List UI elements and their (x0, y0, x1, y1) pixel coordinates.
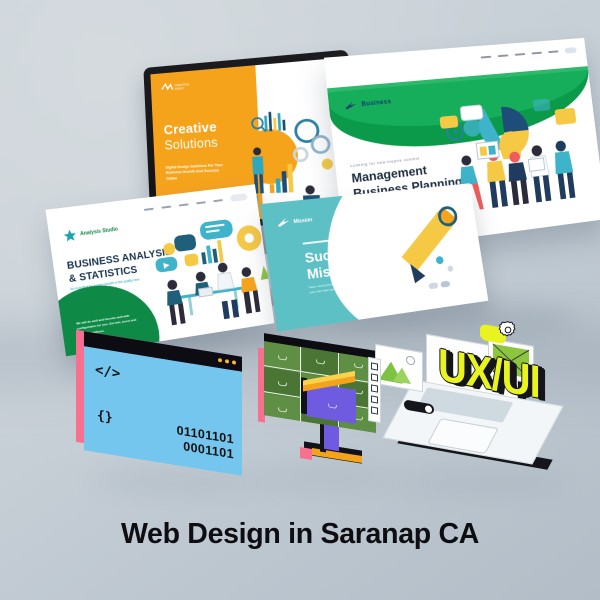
nav-item-work[interactable] (196, 201, 206, 204)
creative-heading-line2: Solutions (164, 135, 218, 152)
nav-item-contact[interactable] (564, 47, 576, 54)
nav-item-service[interactable] (515, 53, 526, 56)
search-icon (424, 404, 433, 415)
nav-item-about[interactable] (161, 205, 171, 208)
open-drawer-handle[interactable] (328, 404, 337, 409)
nav-item-pages[interactable] (179, 203, 189, 206)
nav-item-blog[interactable] (213, 199, 223, 202)
mission-illustration (374, 193, 485, 305)
nav-item-home[interactable] (144, 207, 154, 210)
nav-item-blog[interactable] (548, 50, 558, 53)
business-analysis-brand-label: Analysis Studio (80, 226, 119, 237)
mockup-code-window: </> {} 01101101 0001101 (84, 339, 242, 477)
tool-pen-icon[interactable] (371, 395, 378, 403)
iso-monitor-base-pink (300, 447, 312, 460)
creative-heading: Creative Solutions (163, 120, 218, 152)
tool-select-icon[interactable] (371, 362, 378, 370)
mission-brand: Mission (277, 215, 313, 228)
management-brand-label: Business (361, 99, 391, 108)
mockup-uxui-laptop: UX/UI (382, 318, 572, 490)
tool-text-icon[interactable] (371, 384, 378, 392)
tool-shape-icon[interactable] (371, 373, 378, 381)
code-window-shadow (90, 470, 270, 492)
image-preview-panel (375, 344, 423, 392)
code-binary-text: 01101101 0001101 (177, 423, 234, 462)
creative-body: Digital Design Solutions For Your Busine… (165, 163, 228, 182)
nav-item-home[interactable] (481, 56, 492, 59)
mockup-iso-monitor (256, 340, 386, 480)
poster-canvas: CREATIVE AGENCY Creative Solutions Digit… (0, 0, 600, 600)
mountain-icon-secondary (393, 366, 411, 384)
gear-icon (498, 320, 518, 340)
search-input[interactable] (230, 193, 248, 202)
business-analysis-nav (143, 193, 247, 213)
sun-icon (406, 355, 415, 366)
tool-crop-icon[interactable] (371, 406, 378, 414)
mission-logo-icon (277, 218, 290, 228)
management-logo-icon (343, 100, 358, 110)
page-title: Web Design in Saranap CA (0, 518, 600, 551)
business-analysis-illustration (142, 211, 274, 342)
code-brace-icon: {} (97, 408, 113, 426)
management-nav (480, 47, 576, 60)
code-tag-icon: </> (95, 362, 120, 382)
nav-item-about[interactable] (498, 54, 509, 57)
business-analysis-brand: Analysis Studio (63, 223, 119, 242)
svg-text:CREATIVE: CREATIVE (174, 82, 189, 87)
tool-sidebar[interactable] (368, 357, 381, 423)
mission-brand-label: Mission (293, 217, 313, 225)
nav-item-portfolio[interactable] (532, 52, 542, 55)
analysis-logo-icon (63, 229, 77, 243)
